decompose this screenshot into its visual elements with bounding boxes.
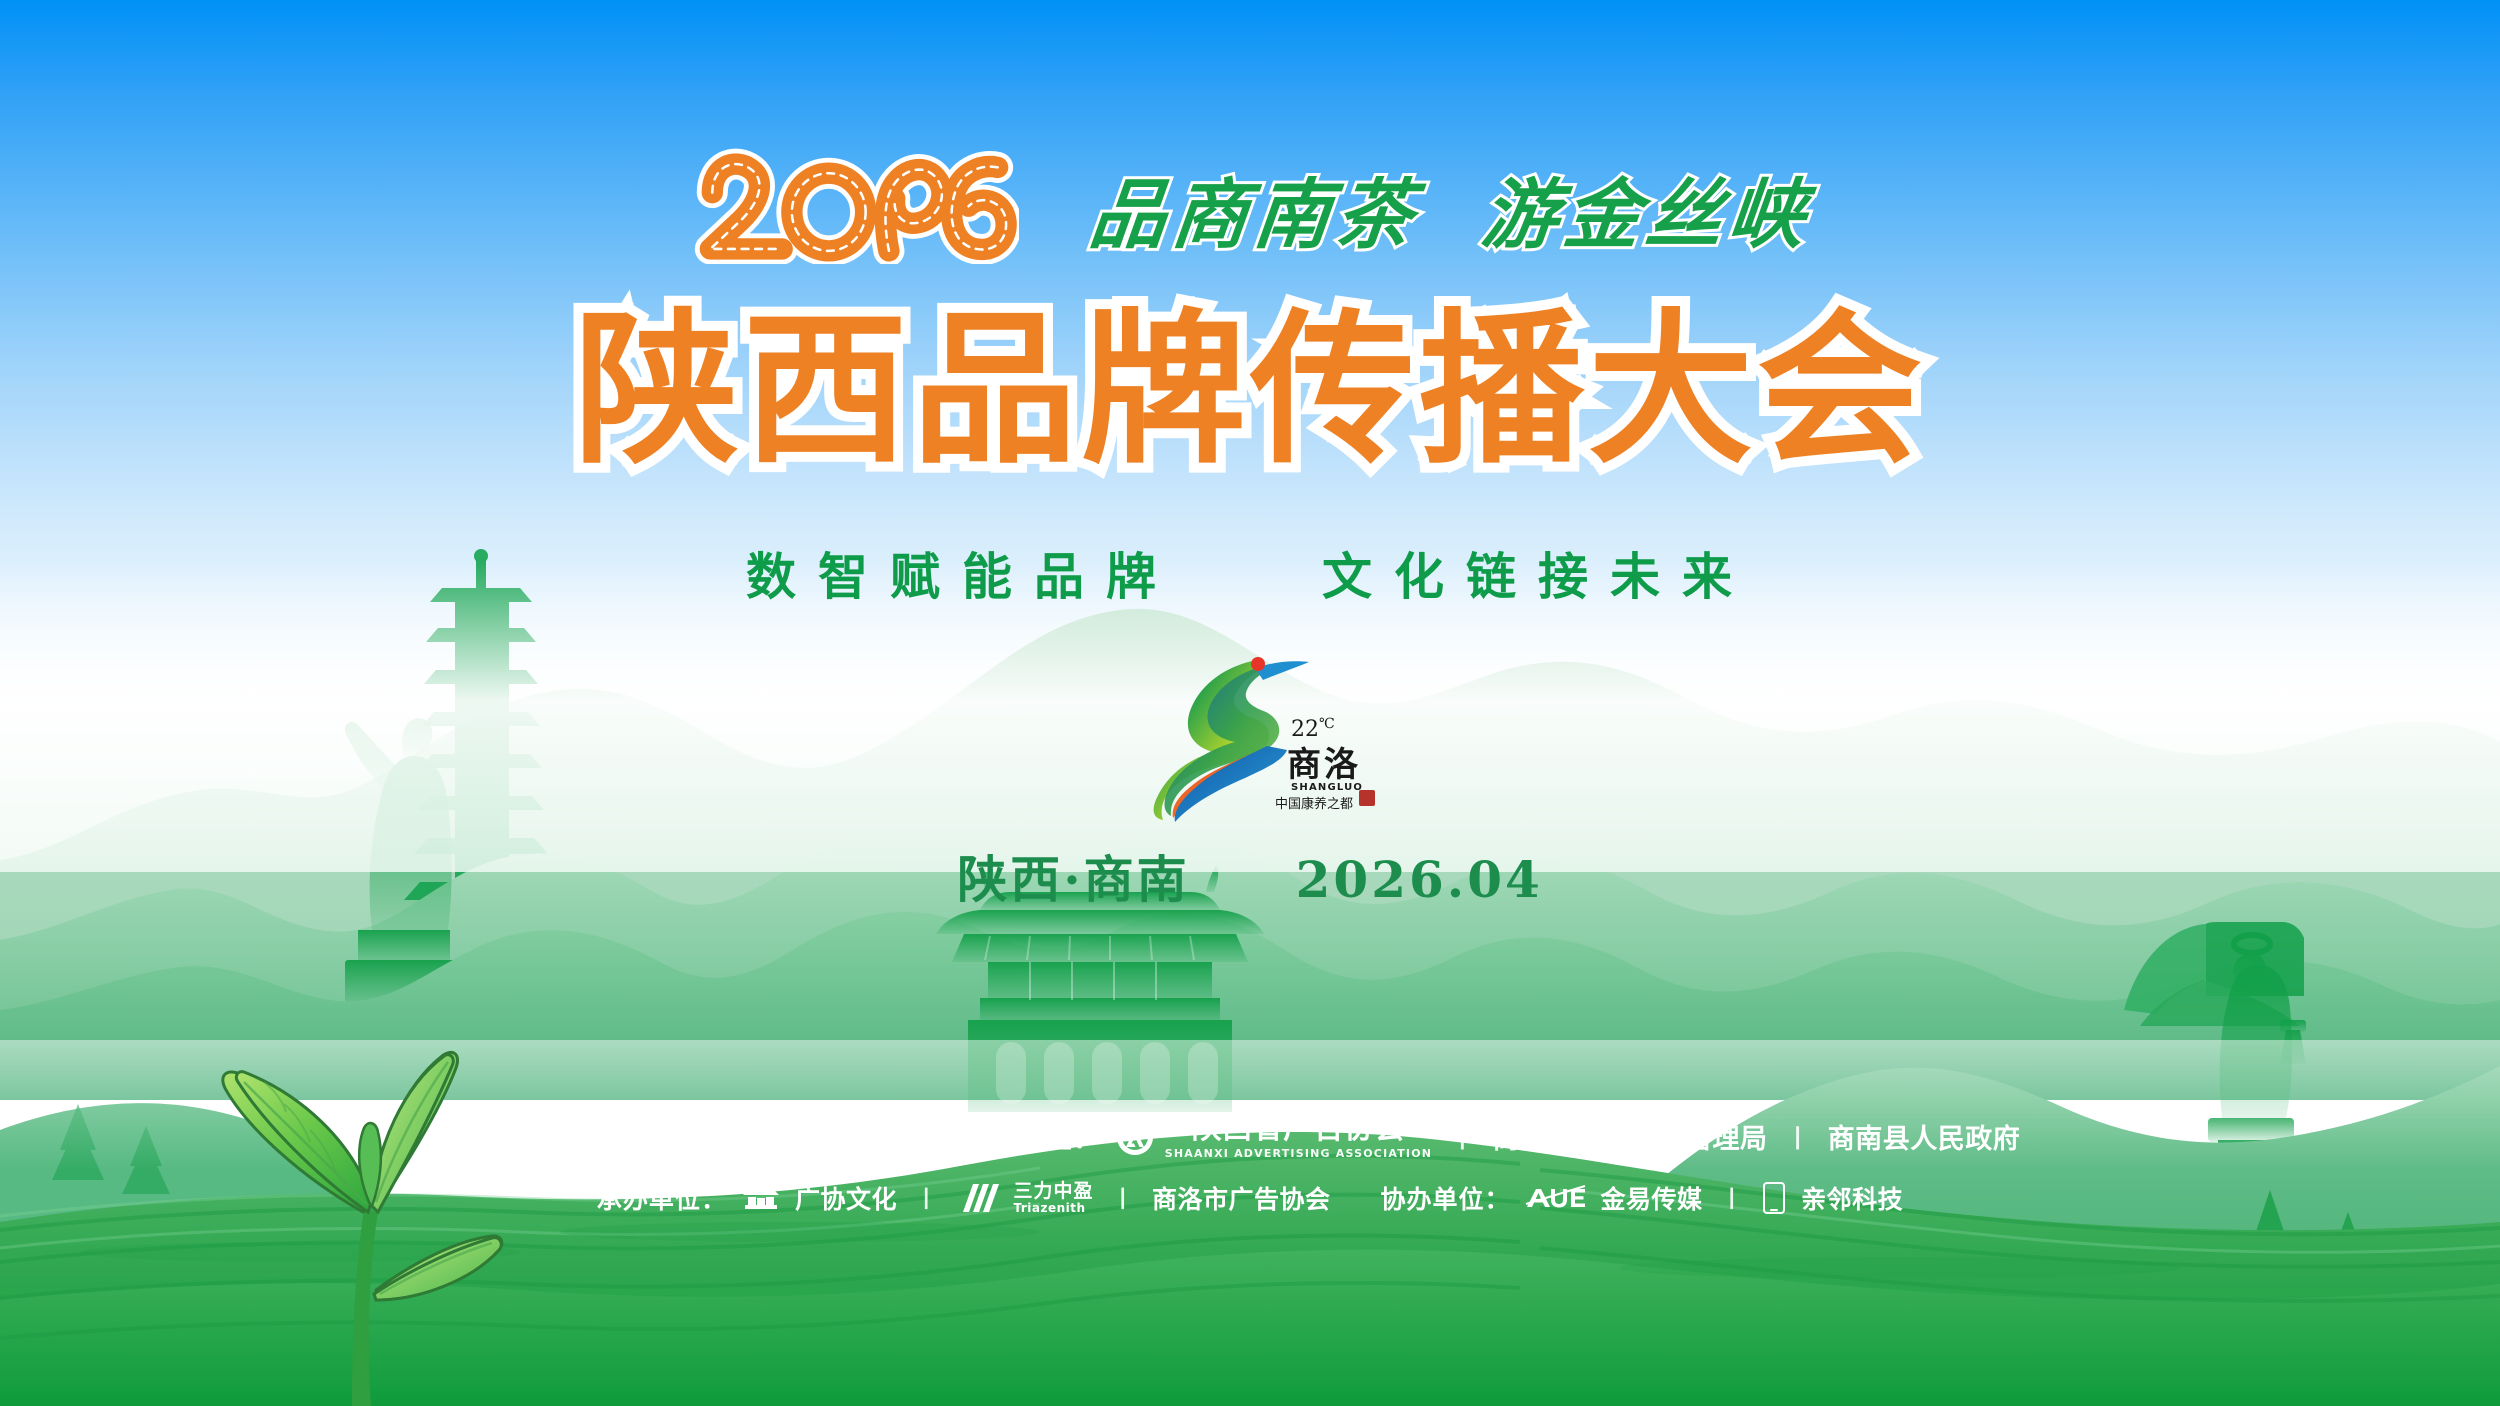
header-row: 品商南茶 游金丝峡	[0, 148, 2500, 268]
sponsor-label-guidance: 指导单位：	[480, 1117, 620, 1156]
shangluo-brandmark-logo: 22 ℃ 商洛 SHANGLUO 中国康养之都	[1115, 650, 1385, 830]
sponsor-row-1: 指导单位： 陕西省市场监督管理局 主办单位： 陕西省广告协会 SHAANXI A…	[0, 1114, 2500, 1159]
year-2026-road-logo	[689, 148, 1019, 268]
svg-text:商洛: 商洛	[1287, 745, 1361, 785]
poster-canvas: 品商南茶 游金丝峡 陕西品牌传播大会 数智赋能品牌 文化链接未来	[0, 0, 2500, 1406]
qinlin-tech-logo-icon	[1761, 1181, 1787, 1215]
slogan-part-2: 游金丝峡	[1477, 153, 1817, 263]
sponsor-label-organizer: 承办单位：	[597, 1180, 727, 1216]
svg-text:℃: ℃	[1319, 716, 1335, 732]
place-and-date: 陕西·商南 2026.04	[0, 840, 2500, 912]
sponsor-name-shangluo-market-admin: 商洛市市场监督管理局	[1492, 1117, 1767, 1156]
sponsor-separator: 丨	[1107, 1182, 1138, 1214]
sponsor-item-triazenith: 三力中盈 Triazenith	[1013, 1182, 1093, 1215]
svg-text:SHANGLUO: SHANGLUO	[1291, 782, 1363, 793]
sponsor-label-coorganizer: 协办单位：	[1381, 1180, 1511, 1216]
svg-text:中国康养之都: 中国康养之都	[1275, 796, 1353, 812]
sponsor-separator: 丨	[1781, 1119, 1813, 1154]
sponsor-group-host: 主办单位： 陕西省广告协会 SHAANXI ADVERTISING ASSOCI…	[961, 1114, 2021, 1159]
aue-logo-icon	[1525, 1183, 1587, 1213]
sponsor-name-guangxie-culture: 广协文化	[795, 1180, 897, 1216]
guangxie-culture-logo-icon	[741, 1183, 781, 1213]
svg-text:22: 22	[1291, 717, 1319, 742]
sponsor-name-saa-en: SHAANXI ADVERTISING ASSOCIATION	[1165, 1148, 1432, 1159]
sponsor-label-host: 主办单位：	[961, 1117, 1101, 1156]
sponsor-row-2: 承办单位： 广协文化	[0, 1180, 2500, 1216]
sponsor-separator: 丨	[1717, 1182, 1748, 1214]
sponsor-separator: 丨	[911, 1182, 942, 1214]
page-subtitle: 数智赋能品牌 文化链接未来	[0, 537, 2500, 609]
sponsor-name-saa-cn: 陕西省广告协会	[1192, 1114, 1406, 1144]
sponsor-name-shangnan-government: 商南县人民政府	[1828, 1117, 2021, 1156]
triazenith-logo-icon	[955, 1182, 999, 1214]
sponsor-item-saa: 陕西省广告协会 SHAANXI ADVERTISING ASSOCIATION	[1115, 1114, 1432, 1159]
slogan-part-1: 品商南茶	[1085, 153, 1425, 263]
sponsor-group-coorganizer: 协办单位： 金易传媒 丨	[1381, 1180, 1904, 1216]
slogan-calligraphy: 品商南茶 游金丝峡	[1091, 153, 1811, 263]
sponsor-name-qinlin-tech: 亲邻科技	[1801, 1180, 1903, 1216]
sponsor-name-triazenith-cn: 三力中盈	[1013, 1182, 1093, 1202]
shaanxi-advertising-association-logo-icon	[1115, 1117, 1155, 1157]
sponsor-group-guidance: 指导单位： 陕西省市场监督管理局	[480, 1117, 909, 1156]
page-title: 陕西品牌传播大会	[0, 306, 2500, 476]
sponsor-name-triazenith-en: Triazenith	[1013, 1202, 1085, 1215]
sponsor-group-organizer: 承办单位： 广协文化	[597, 1180, 1331, 1216]
sponsor-name-jinyi-media: 金易传媒	[1601, 1180, 1703, 1216]
sponsor-name-shangluo-ad-association: 商洛市广告协会	[1152, 1180, 1331, 1216]
sponsor-separator: 丨	[1446, 1119, 1478, 1154]
sponsor-name-shaanxi-market-admin: 陕西省市场监督管理局	[634, 1117, 909, 1156]
